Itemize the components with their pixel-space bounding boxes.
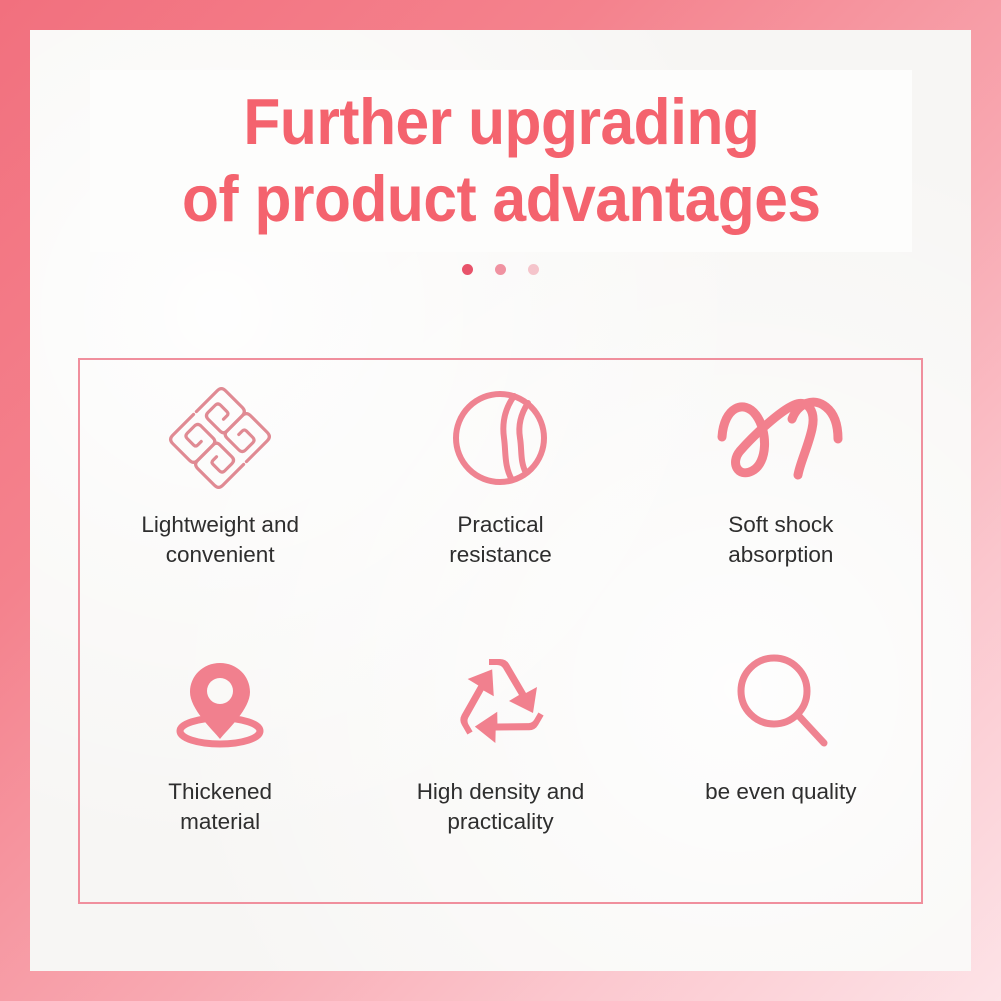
feature-label-line-2: practicality xyxy=(447,809,553,834)
feature-label-line-1: Practical xyxy=(457,512,543,537)
feature-label: Thickened material xyxy=(168,777,272,837)
dot-2-icon xyxy=(495,264,506,275)
title-block: Further upgrading of product advantages xyxy=(90,70,912,252)
feature-label-line-2: absorption xyxy=(728,542,833,567)
features-grid: Lightweight and convenient Practi xyxy=(80,360,921,902)
feature-label-line-1: Thickened xyxy=(168,779,272,804)
features-panel: Lightweight and convenient Practi xyxy=(78,358,923,904)
map-pin-icon xyxy=(155,641,285,761)
feature-label-line-2: convenient xyxy=(166,542,275,567)
feature-label-line-1: Lightweight and xyxy=(141,512,299,537)
feature-label: Soft shock absorption xyxy=(728,510,833,570)
dot-3-icon xyxy=(528,264,539,275)
feature-item-practical-resistance: Practical resistance xyxy=(360,360,640,631)
content-card: Further upgrading of product advantages xyxy=(30,30,971,971)
feature-item-lightweight: Lightweight and convenient xyxy=(80,360,360,631)
feature-label-line-1: High density and xyxy=(417,779,585,804)
decorative-dots xyxy=(30,264,971,275)
feature-label: Lightweight and convenient xyxy=(141,510,299,570)
ball-icon xyxy=(435,378,565,498)
feature-item-high-density: High density and practicality xyxy=(360,631,640,902)
page-title-line-2: of product advantages xyxy=(182,161,820,238)
feature-label: Practical resistance xyxy=(449,510,552,570)
feature-item-even-quality: be even quality xyxy=(641,631,921,902)
recycle-icon xyxy=(435,641,565,761)
cloud-knot-icon xyxy=(155,378,285,498)
wave-spring-icon xyxy=(716,378,846,498)
feature-label-line-2: material xyxy=(180,809,260,834)
dot-1-icon xyxy=(462,264,473,275)
feature-item-soft-shock: Soft shock absorption xyxy=(641,360,921,631)
page-title-line-1: Further upgrading xyxy=(243,84,759,161)
product-advantages-banner: Further upgrading of product advantages xyxy=(0,0,1001,1001)
feature-item-thickened-material: Thickened material xyxy=(80,631,360,902)
feature-label-line-2: resistance xyxy=(449,542,552,567)
magnifier-icon xyxy=(716,641,846,761)
feature-label: High density and practicality xyxy=(417,777,585,837)
feature-label: be even quality xyxy=(705,777,856,807)
feature-label-line-1: be even quality xyxy=(705,779,856,804)
feature-label-line-1: Soft shock xyxy=(728,512,833,537)
